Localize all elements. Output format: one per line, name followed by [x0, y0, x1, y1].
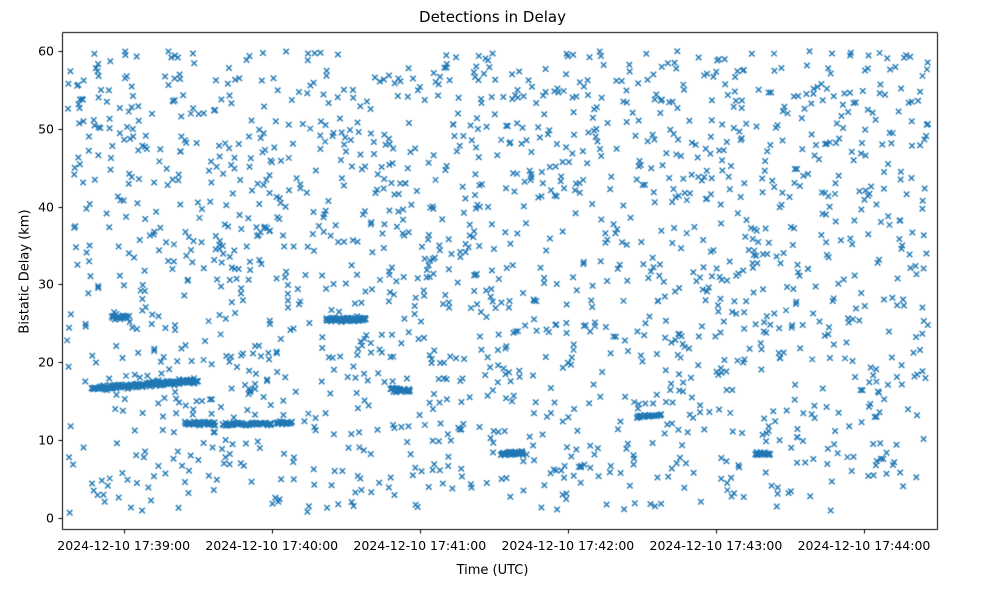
scatter-plot-canvas [0, 0, 985, 590]
y-tick-label: 30 [0, 277, 54, 292]
y-tick-label: 50 [0, 122, 54, 137]
y-tick-label: 20 [0, 355, 54, 370]
x-tick-label: 2024-12-10 17:44:00 [798, 538, 931, 553]
chart-title: Detections in Delay [0, 8, 985, 26]
x-tick-label: 2024-12-10 17:40:00 [205, 538, 338, 553]
y-tick-label: 10 [0, 432, 54, 447]
y-tick-label: 0 [0, 510, 54, 525]
x-tick-label: 2024-12-10 17:41:00 [353, 538, 486, 553]
x-axis-label: Time (UTC) [0, 563, 985, 579]
x-tick-label: 2024-12-10 17:42:00 [501, 538, 634, 553]
y-tick-label: 60 [0, 44, 54, 59]
x-tick-label: 2024-12-10 17:39:00 [57, 538, 190, 553]
y-tick-label: 40 [0, 199, 54, 214]
scatter-plot-figure: Detections in Delay Time (UTC) Bistatic … [0, 0, 985, 590]
x-tick-label: 2024-12-10 17:43:00 [650, 538, 783, 553]
